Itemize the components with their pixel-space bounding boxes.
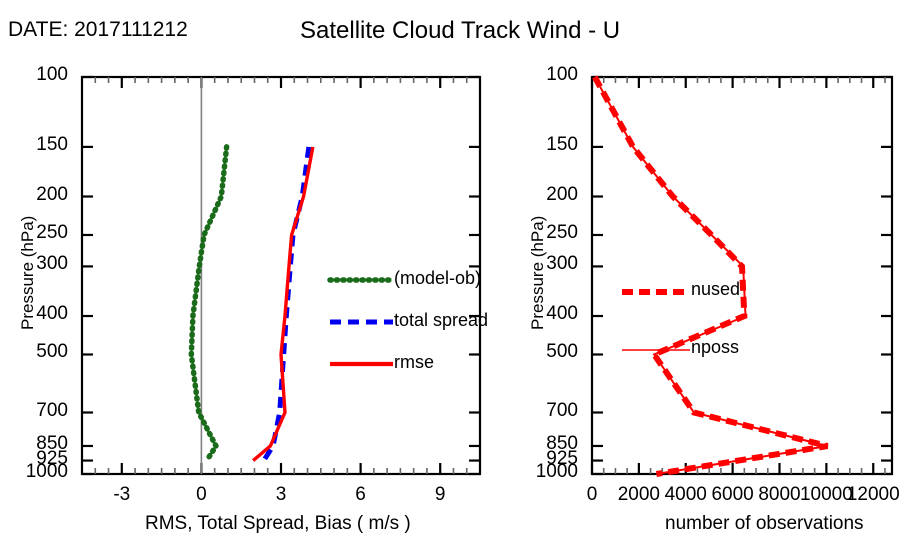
x-tick-label--3: -3 — [113, 484, 130, 506]
x-tick-label-8000: 8000 — [758, 484, 800, 506]
y-tick-label-400: 400 — [36, 303, 68, 325]
y-tick-label-100: 100 — [546, 64, 578, 86]
y-tick-label-300: 300 — [546, 253, 578, 275]
legend-label-2: rmse — [394, 352, 434, 373]
y-tick-label-1000: 1000 — [26, 461, 68, 483]
x-tick-label-10000: 10000 — [800, 484, 853, 506]
x-tick-label-3: 3 — [276, 484, 287, 506]
y-tick-label-500: 500 — [546, 341, 578, 363]
y-tick-label-200: 200 — [36, 184, 68, 206]
legend-label-0: (model-ob) — [394, 268, 481, 289]
y-tick-label-100: 100 — [36, 64, 68, 86]
y-tick-label-150: 150 — [546, 134, 578, 156]
y-tick-label-150: 150 — [36, 134, 68, 156]
x-tick-label-4000: 4000 — [665, 484, 707, 506]
x-tick-label-6: 6 — [355, 484, 366, 506]
x-tick-label-9: 9 — [435, 484, 446, 506]
y-tick-label-500: 500 — [36, 341, 68, 363]
x-tick-label-2000: 2000 — [618, 484, 660, 506]
x-tick-label-0: 0 — [587, 484, 598, 506]
legend-label-1: total spread — [394, 310, 488, 331]
x-tick-label-0: 0 — [196, 484, 207, 506]
y-tick-label-300: 300 — [36, 253, 68, 275]
y-tick-label-200: 200 — [546, 184, 578, 206]
y-tick-label-250: 250 — [546, 222, 578, 244]
right-legend-label-1: nposs — [691, 337, 739, 358]
series-nused — [595, 77, 828, 474]
x-tick-label-12000: 12000 — [847, 484, 900, 506]
y-tick-label-1000: 1000 — [536, 461, 578, 483]
y-tick-label-700: 700 — [546, 400, 578, 422]
right-legend-label-0: nused — [691, 279, 740, 300]
y-tick-label-400: 400 — [546, 303, 578, 325]
chart-canvas: DATE: 2017111212 Satellite Cloud Track W… — [0, 0, 900, 560]
y-tick-label-700: 700 — [36, 400, 68, 422]
y-tick-label-250: 250 — [36, 222, 68, 244]
x-tick-label-6000: 6000 — [711, 484, 753, 506]
